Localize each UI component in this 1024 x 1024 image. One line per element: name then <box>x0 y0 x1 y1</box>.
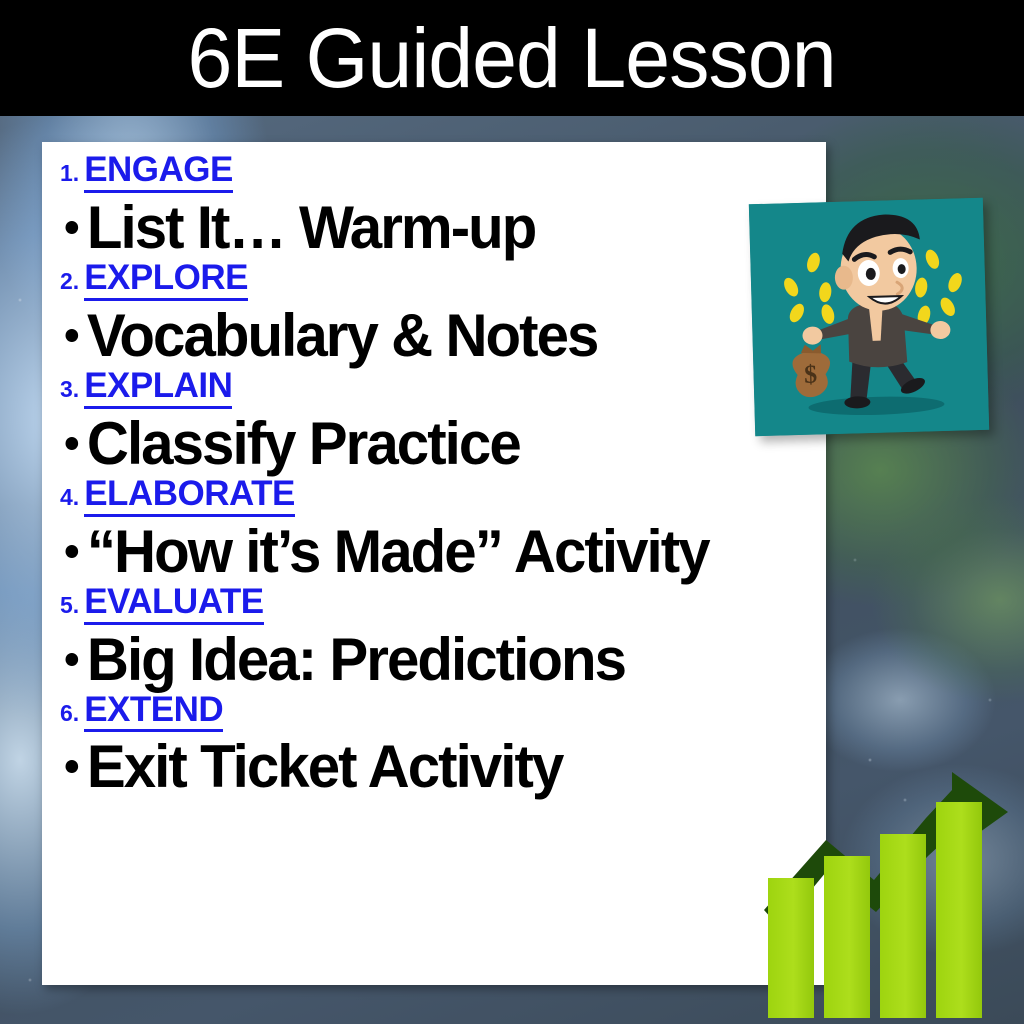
list-item: 6. EXTEND Exit Ticket Activity <box>50 692 826 798</box>
step-activity: Classify Practice <box>87 413 520 474</box>
step-activity: List It… Warm-up <box>87 197 536 258</box>
step-activity-row: Classify Practice <box>50 413 803 474</box>
poster-canvas: 6E Guided Lesson 1. ENGAGE List It… Warm… <box>0 0 1024 1024</box>
bullet-dot-icon <box>66 760 79 773</box>
growth-bar-chart-icon <box>756 760 1014 1022</box>
step-number: 3. <box>60 378 79 401</box>
step-activity-row: Big Idea: Predictions <box>50 629 803 690</box>
money-cartoon-card: $ <box>749 198 989 436</box>
svg-text:$: $ <box>804 359 818 388</box>
step-activity-row: Exit Ticket Activity <box>50 736 803 797</box>
step-activity-row: Vocabulary & Notes <box>50 305 803 366</box>
bullet-dot-icon <box>66 545 79 558</box>
step-number: 2. <box>60 270 79 293</box>
step-title: EXTEND <box>84 692 223 733</box>
list-item: 3. EXPLAIN Classify Practice <box>50 368 826 474</box>
step-title: ENGAGE <box>84 152 233 193</box>
lesson-step-list: 1. ENGAGE List It… Warm-up 2. EXPLORE Vo… <box>50 152 826 798</box>
step-activity-row: “How it’s Made” Activity <box>50 521 803 582</box>
step-activity: Vocabulary & Notes <box>87 305 598 366</box>
step-activity: “How it’s Made” Activity <box>87 521 709 582</box>
bullet-dot-icon <box>66 329 79 342</box>
bullet-dot-icon <box>66 437 79 450</box>
list-item: 5. EVALUATE Big Idea: Predictions <box>50 584 826 690</box>
step-number: 5. <box>60 594 79 617</box>
step-number: 4. <box>60 486 79 509</box>
man-with-money-cartoon-icon: $ <box>749 198 989 436</box>
step-title: EXPLAIN <box>84 368 232 409</box>
bullet-dot-icon <box>66 653 79 666</box>
step-heading[interactable]: 3. EXPLAIN <box>50 368 826 409</box>
list-item: 4. ELABORATE “How it’s Made” Activity <box>50 476 826 582</box>
growth-chart-graphic <box>756 760 1014 1022</box>
step-heading[interactable]: 6. EXTEND <box>50 692 826 733</box>
step-heading[interactable]: 4. ELABORATE <box>50 476 826 517</box>
step-heading[interactable]: 1. ENGAGE <box>50 152 826 193</box>
step-heading[interactable]: 2. EXPLORE <box>50 260 826 301</box>
list-item: 1. ENGAGE List It… Warm-up <box>50 152 826 258</box>
step-activity-row: List It… Warm-up <box>50 197 803 258</box>
lesson-card: 1. ENGAGE List It… Warm-up 2. EXPLORE Vo… <box>42 142 826 985</box>
step-title: EXPLORE <box>84 260 248 301</box>
step-title: ELABORATE <box>84 476 295 517</box>
step-activity: Exit Ticket Activity <box>87 736 563 797</box>
bullet-dot-icon <box>66 221 79 234</box>
step-number: 1. <box>60 162 79 185</box>
page-title: 6E Guided Lesson <box>188 16 836 100</box>
step-activity: Big Idea: Predictions <box>87 629 625 690</box>
step-heading[interactable]: 5. EVALUATE <box>50 584 826 625</box>
title-banner: 6E Guided Lesson <box>0 0 1024 116</box>
step-title: EVALUATE <box>84 584 263 625</box>
list-item: 2. EXPLORE Vocabulary & Notes <box>50 260 826 366</box>
step-number: 6. <box>60 702 79 725</box>
